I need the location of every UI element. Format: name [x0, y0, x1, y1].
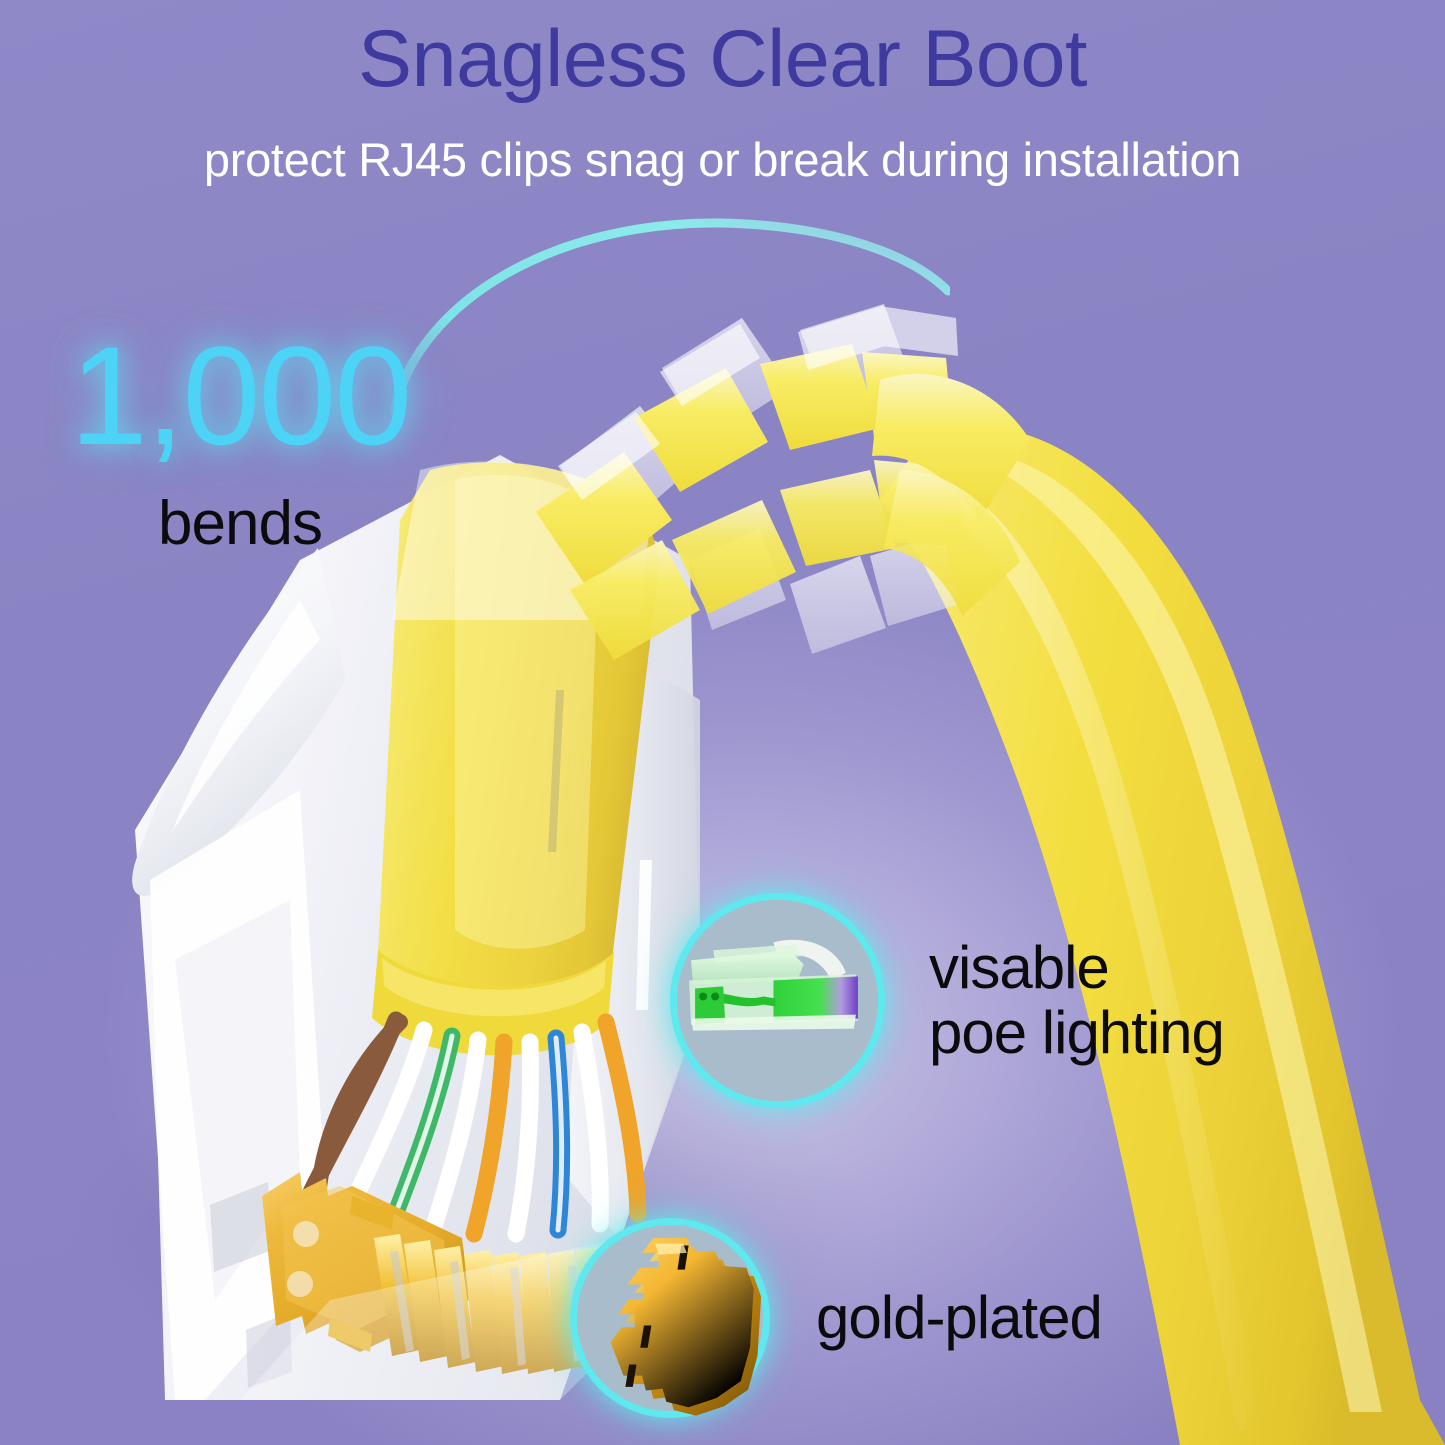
- product-marketing-image: Snagless Clear Boot protect RJ45 clips s…: [0, 0, 1445, 1445]
- glowing-rj45-connector-icon: [677, 900, 878, 1101]
- feature-callout-gold: gold-plated: [570, 1218, 1102, 1418]
- bends-count: 1,000: [40, 326, 440, 466]
- bends-label: bends: [40, 488, 440, 559]
- feature-callout-poe: visable poe lighting: [670, 893, 1224, 1108]
- poe-feature-label: visable poe lighting: [929, 936, 1224, 1066]
- page-subtitle: protect RJ45 clips snag or break during …: [0, 132, 1445, 187]
- poe-icon-circle: [670, 893, 885, 1108]
- bends-stat: 1,000 bends: [40, 326, 440, 559]
- page-title: Snagless Clear Boot: [0, 14, 1445, 105]
- gold-feature-label: gold-plated: [816, 1286, 1102, 1351]
- gold-icon-circle: [570, 1218, 770, 1418]
- gold-contact-pin-icon: [577, 1225, 763, 1411]
